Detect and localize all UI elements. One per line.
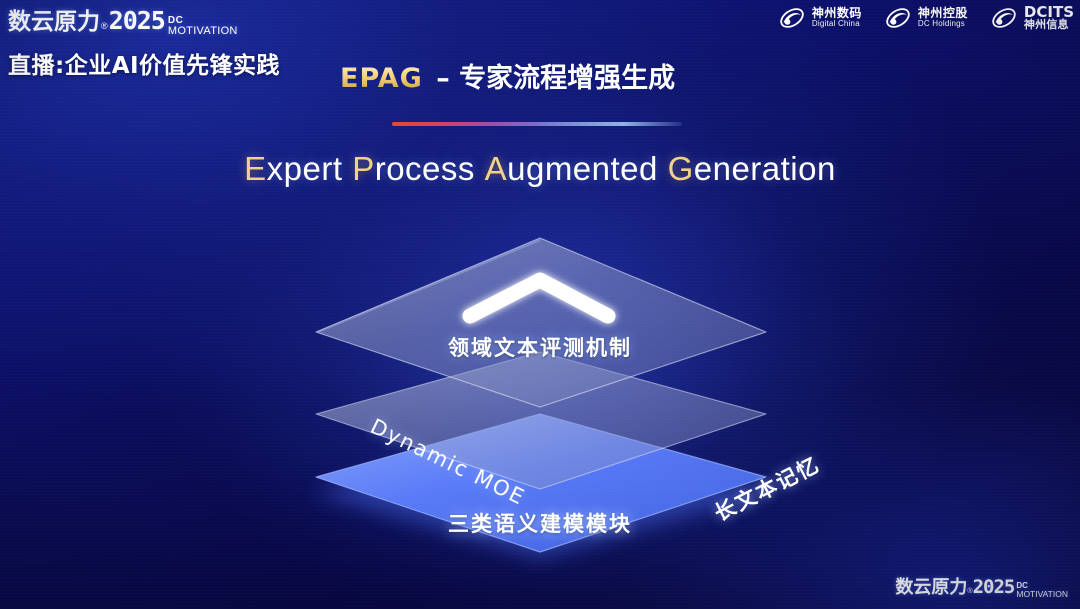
epag-word-2: rocess [375, 150, 485, 187]
corporate-logo-name: DCITS [1024, 4, 1074, 20]
corporate-logo-sub: DC Holdings [918, 20, 968, 29]
epag-initial-E: E [244, 150, 267, 187]
watermark-cn: 数云原力 [895, 573, 967, 599]
corporate-logo-group: 神州数码Digital China神州控股DC HoldingsDCITS神州信… [778, 4, 1074, 32]
corporate-logo-text: DCITS神州信息 [1024, 4, 1074, 32]
brand-logo-motivation: MOTIVATION [168, 26, 238, 37]
epag-word-1: xpert [267, 150, 353, 187]
livestream-subtitle: 直播:企业AI价值先锋实践 [8, 46, 280, 80]
gradient-divider [392, 122, 682, 126]
corporate-logo-text: 神州数码Digital China [812, 7, 862, 29]
corporate-logo-sub: 神州信息 [1024, 20, 1074, 32]
epag-expansion: Expert Process Augmented Generation [0, 150, 1080, 188]
corporate-logo-text: 神州控股DC Holdings [918, 7, 968, 29]
swirl-logo-icon [778, 4, 806, 32]
layer-bottom-label: 三类语义建模模块 [0, 508, 1080, 538]
watermark-dc-motivation: DC MOTIVATION [1016, 582, 1068, 599]
corporate-logo-3: DCITS神州信息 [990, 4, 1074, 32]
slide-title: EPAG – 专家流程增强生成 [340, 56, 675, 95]
swirl-logo-icon [884, 4, 912, 32]
watermark-motivation: MOTIVATION [1016, 590, 1068, 599]
swirl-logo-icon [990, 4, 1018, 32]
epag-word-3: ugmented [507, 150, 667, 187]
epag-initial-A: A [485, 150, 508, 187]
brand-logo: 数云原力 ® 2025 DC MOTIVATION [8, 2, 238, 43]
corporate-logo-2: 神州控股DC Holdings [884, 4, 968, 32]
slide-title-chinese: – 专家流程增强生成 [436, 63, 675, 94]
epag-initial-G: G [668, 150, 694, 187]
layer-top-label: 领域文本评测机制 [0, 332, 1080, 362]
corporate-logo-sub: Digital China [812, 20, 862, 29]
epag-initial-P: P [352, 150, 375, 187]
epag-word-4: eneration [694, 150, 836, 187]
watermark-year: 2025 [973, 576, 1015, 598]
brand-logo-registered: ® [101, 21, 108, 31]
slide-canvas: 数云原力 ® 2025 DC MOTIVATION 直播:企业AI价值先锋实践 … [0, 0, 1080, 609]
brand-logo-year: 2025 [109, 6, 165, 35]
brand-logo-cn: 数云原力 [8, 2, 100, 36]
watermark-logo: 数云原力 ® 2025 DC MOTIVATION [895, 573, 1068, 604]
corporate-logo-1: 神州数码Digital China [778, 4, 862, 32]
slide-title-acronym: EPAG [340, 63, 423, 94]
brand-logo-dc-motivation: DC MOTIVATION [168, 16, 238, 37]
